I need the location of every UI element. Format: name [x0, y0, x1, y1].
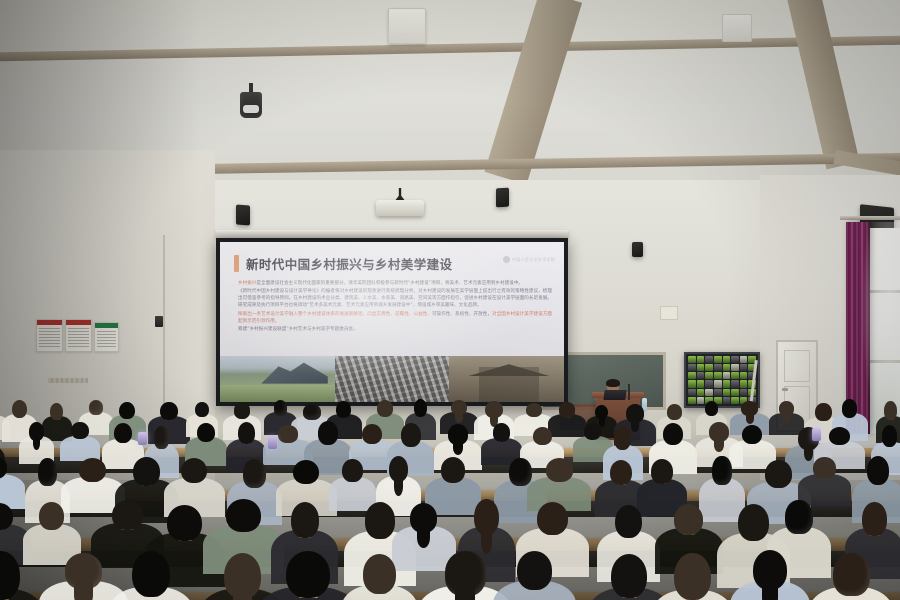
audience-head — [509, 458, 532, 487]
audience-head — [167, 505, 201, 541]
audience-head — [667, 404, 682, 419]
audience-head — [842, 399, 857, 417]
raised-phone-icon — [812, 428, 821, 441]
wall-speaker-icon — [632, 242, 643, 257]
audience-head — [286, 551, 330, 598]
title-accent-bar — [234, 255, 239, 272]
audience-head — [705, 401, 718, 416]
audience-seating — [0, 396, 900, 600]
audience-head — [79, 458, 106, 482]
audience-head — [867, 456, 889, 485]
audience-head — [829, 427, 850, 446]
audience-head — [278, 425, 299, 442]
audience-head — [181, 458, 207, 484]
audience-ponytail — [455, 587, 475, 600]
audience-head — [12, 400, 27, 418]
audience-head — [377, 400, 393, 417]
audience-head — [112, 500, 143, 530]
slide-text-highlight: 探索出一条艺术设计美学融入整个乡村建设体系的发展新路径，凸显实用性、前瞻性、公益… — [238, 312, 432, 317]
slide-body-text: 乡村振兴是全面建设社会主义现代化国家的重要部分，清华美院团队积极参与新时代“乡村… — [238, 280, 552, 334]
audience-head — [862, 502, 887, 535]
audience-ponytail — [455, 412, 463, 423]
audience-head — [195, 402, 208, 418]
audience-head — [533, 427, 552, 445]
slide-text-normal: 《新时代中国乡村建设与设计美学导论》的编者将对乡村建设的现状进行系统梳理分析，对… — [238, 289, 552, 308]
audience-head — [362, 424, 382, 444]
audience-head — [815, 403, 831, 421]
audience-head — [291, 502, 319, 538]
audience-head — [833, 553, 870, 597]
audience-head — [226, 499, 260, 532]
audience-head — [813, 457, 835, 478]
wall-trim-strip — [48, 378, 88, 383]
audience-head — [882, 425, 898, 447]
audience-ponytail — [233, 591, 251, 600]
audience-head — [197, 423, 215, 442]
audience-head — [517, 551, 552, 589]
ceiling-projector-icon — [376, 200, 424, 216]
audience-head — [342, 459, 362, 482]
slide-paragraph: 筹建“乡村振兴建设联盟”乡村艺术与乡村美学专题委员会。 — [238, 326, 552, 333]
light-switch-panel[interactable] — [155, 316, 163, 327]
audience-head — [132, 551, 170, 597]
logo-mark-icon — [503, 256, 510, 263]
audience-head — [742, 425, 762, 444]
raised-phone-icon — [138, 432, 147, 445]
audience-torso — [548, 414, 587, 437]
wall-speaker-icon — [236, 205, 250, 226]
audience-head — [651, 459, 672, 484]
curtain-rod — [840, 216, 900, 220]
audience-head — [38, 458, 57, 487]
slide-paragraph: 乡村振兴是全面建设社会主义现代化国家的重要部分，清华美院团队积极参与新时代“乡村… — [238, 280, 552, 287]
audience-head — [39, 502, 64, 529]
audience-head — [559, 402, 576, 417]
audience-head — [401, 423, 421, 446]
audience-head — [663, 423, 684, 446]
audience-head — [712, 456, 731, 485]
audience-head — [526, 403, 543, 417]
audience-head — [293, 460, 319, 484]
slide-text-normal: 筹建“乡村振兴建设联盟”乡村艺术与乡村美学专题委员会。 — [238, 327, 358, 332]
audience-head — [89, 400, 103, 415]
audience-head — [537, 502, 568, 535]
university-watermark: 中国人民大学艺术学院 — [503, 256, 555, 263]
audience-head — [365, 502, 396, 539]
slide-text-normal: 是全面建设社会主义现代化国家的重要部分，清华美院团队积极参与新时代“乡村建设”项… — [256, 281, 523, 286]
audience-head — [50, 403, 63, 420]
audience-head — [274, 400, 288, 415]
audience-head — [584, 423, 601, 440]
audience-ponytail — [33, 437, 40, 450]
poster-green — [94, 322, 119, 352]
audience-head — [615, 505, 642, 539]
audience-head — [765, 460, 792, 488]
audience-head — [336, 401, 351, 418]
audience-head — [238, 422, 255, 444]
audience-head — [160, 402, 178, 420]
audience-head — [884, 401, 897, 420]
audience-head — [738, 504, 769, 541]
audience-ponytail — [599, 417, 605, 427]
audience-head — [318, 421, 338, 444]
slide-title: 新时代中国乡村振兴与乡村美学建设 — [246, 254, 452, 273]
audience-head — [614, 426, 631, 449]
logo-text: 中国人民大学艺术学院 — [512, 257, 555, 263]
lecture-hall-photo: 新时代中国乡村振兴与乡村美学建设 中国人民大学艺术学院 乡村振兴是全面建设社会主… — [0, 0, 900, 600]
projection-screen: 新时代中国乡村振兴与乡村美学建设 中国人民大学艺术学院 乡村振兴是全面建设社会主… — [216, 238, 568, 406]
poster-red-1 — [36, 319, 63, 352]
audience-head — [674, 504, 703, 535]
audience-head — [303, 404, 321, 420]
audience-head — [610, 460, 632, 485]
door-handle-icon[interactable] — [782, 388, 788, 391]
audience-ponytail — [762, 583, 778, 600]
audience-head — [674, 553, 710, 600]
audience-ponytail — [453, 441, 463, 455]
audience-head — [363, 554, 396, 594]
slide-text-normal: 可操作性、系统性、开放性， — [432, 312, 492, 317]
audience-head — [154, 426, 169, 449]
audience-ponytail — [394, 477, 403, 495]
audience-head — [493, 423, 510, 441]
wall-notice — [660, 306, 678, 320]
audience-head — [414, 399, 427, 417]
poster-red-2 — [65, 319, 92, 352]
slide-paragraph: 探索出一条艺术设计美学融入整个乡村建设体系的发展新路径，凸显实用性、前瞻性、公益… — [238, 311, 552, 325]
audience-head — [611, 554, 647, 598]
audience-ponytail — [631, 419, 640, 432]
raised-phone-icon — [268, 436, 277, 449]
audience-head — [234, 402, 250, 418]
audience-head — [243, 459, 267, 488]
presentation-slide: 新时代中国乡村振兴与乡村美学建设 中国人民大学艺术学院 乡村振兴是全面建设社会主… — [220, 242, 564, 402]
audience-head — [441, 457, 465, 482]
audience-ponytail — [74, 582, 92, 600]
audience-head — [119, 402, 135, 420]
audience-head — [133, 457, 160, 486]
audience-head — [114, 423, 132, 443]
audience-head — [546, 458, 573, 481]
audience-head — [71, 422, 88, 439]
audience-ponytail — [714, 438, 724, 452]
ac-vent-box-icon — [722, 14, 752, 42]
ac-vent-box-icon — [388, 8, 426, 44]
slide-paragraph: 《新时代中国乡村建设与设计美学导论》的编者将对乡村建设的现状进行系统梳理分析，对… — [238, 288, 552, 309]
slide-text-highlight: 乡村振兴 — [238, 281, 256, 286]
audience-head — [785, 500, 813, 534]
wall-speaker-icon — [496, 188, 509, 208]
audience-ponytail — [746, 413, 754, 423]
